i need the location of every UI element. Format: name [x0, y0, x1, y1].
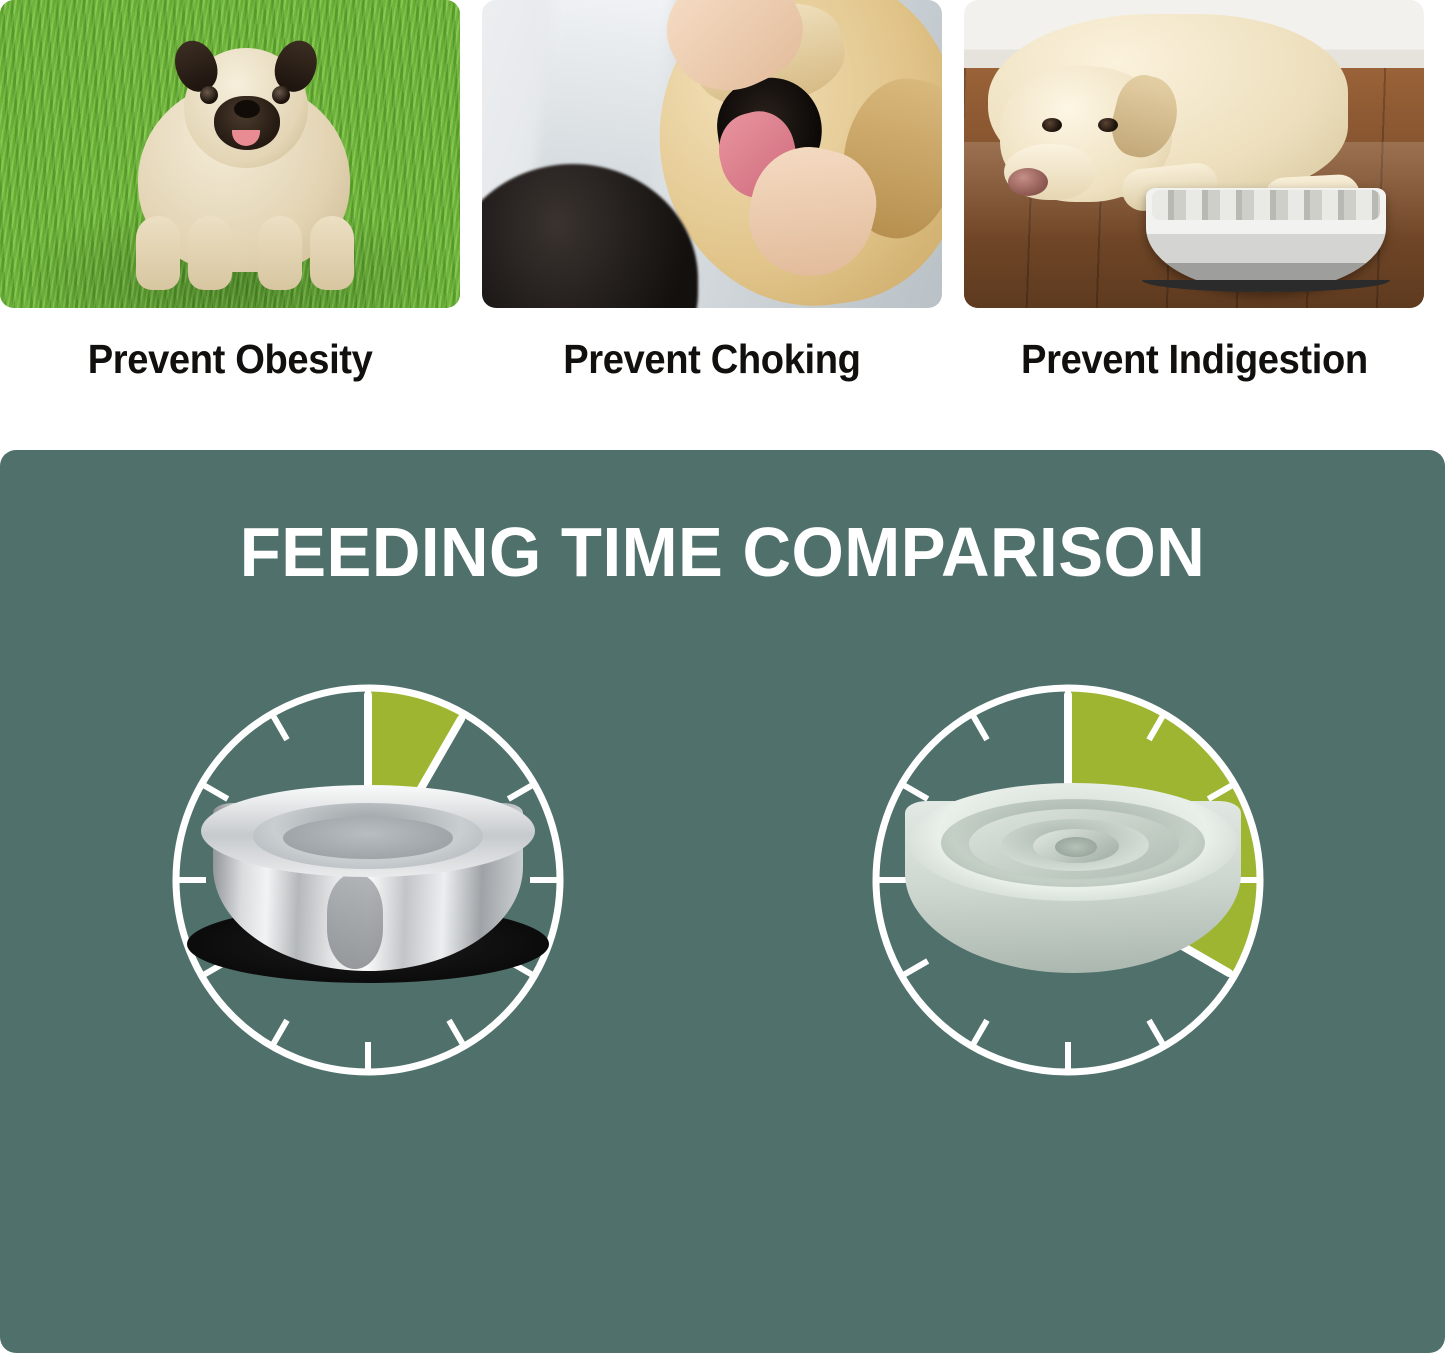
benefit-label-choking: Prevent Choking [563, 336, 860, 383]
benefit-card-choking: Prevent Choking [482, 0, 942, 410]
clock-center-hub [353, 865, 383, 895]
slow-feeder-clock-dial [853, 665, 1283, 1095]
infographic-page: Prevent Obesity Prevent Choking [0, 0, 1445, 1353]
benefit-card-obesity: Prevent Obesity [0, 0, 460, 410]
clinic-background [482, 0, 942, 308]
grass-background [0, 0, 460, 308]
feeding-time-comparison-panel: FEEDING TIME COMPARISON [0, 450, 1445, 1353]
benefit-label-indigestion: Prevent Indigestion [1021, 336, 1368, 383]
benefits-row: Prevent Obesity Prevent Choking [0, 0, 1445, 410]
normal-bowl-clock-dial [153, 665, 583, 1095]
normal-bowl-clock [153, 665, 583, 1095]
fat-pug-photo [0, 0, 460, 308]
pug-illustration [128, 34, 360, 284]
slow-feeder-clock [853, 665, 1283, 1095]
indigestion-dog-photo [964, 0, 1424, 308]
wood-floor-background [964, 0, 1424, 308]
clock-comparison-row [0, 665, 1445, 1115]
benefit-card-indigestion: Prevent Indigestion [964, 0, 1424, 410]
benefit-label-obesity: Prevent Obesity [88, 336, 373, 383]
page-title: FEEDING TIME COMPARISON [29, 512, 1416, 592]
choking-dog-photo [482, 0, 942, 308]
clock-center-hub [1053, 865, 1083, 895]
